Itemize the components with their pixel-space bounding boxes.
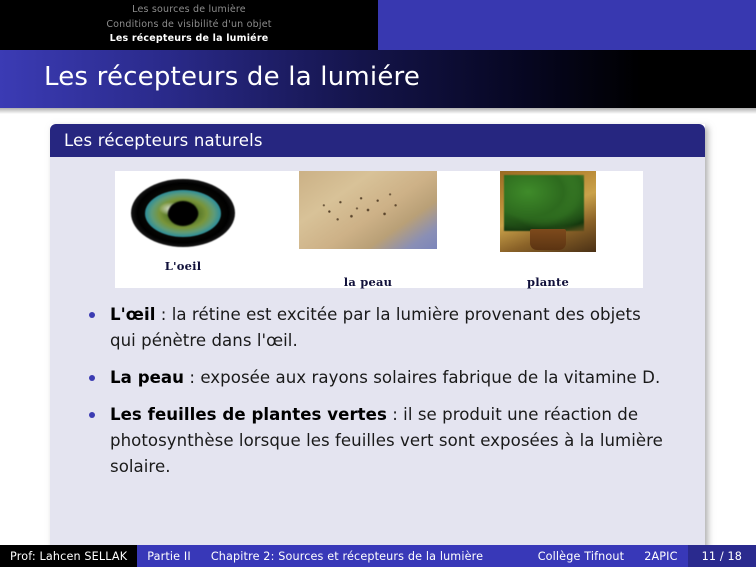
nav-item-conditions[interactable]: Conditions de visibilité d'un objet [0, 18, 378, 33]
bullet-term-skin: La peau [110, 368, 184, 387]
block-body: L'oeil la peau plante L'œil : la rétine … [50, 157, 705, 549]
figure-eye: L'oeil [123, 171, 243, 273]
figure-plant: plante [500, 171, 596, 289]
figure-skin-caption: la peau [299, 275, 437, 289]
list-item: L'œil : la rétine est excitée par la lum… [74, 302, 671, 354]
navigation-bar: Les sources de lumière Conditions de vis… [0, 0, 756, 50]
block-header: Les récepteurs naturels [50, 124, 705, 157]
plant-image [500, 171, 596, 252]
block-title-label: Les récepteurs naturels [64, 131, 263, 150]
slide-title-bar: Les récepteurs de la lumiére [0, 50, 756, 108]
bullet-text-eye: : la rétine est excitée par la lumière p… [110, 305, 641, 350]
bullet-text-skin: : exposée aux rayons solaires fabrique d… [184, 368, 660, 387]
title-bar-shadow [0, 108, 756, 114]
bullet-term-leaves: Les feuilles de plantes vertes [110, 405, 387, 424]
navigation-sections: Les sources de lumière Conditions de vis… [0, 0, 378, 50]
figure-strip: L'oeil la peau plante [115, 171, 643, 288]
nav-item-sources[interactable]: Les sources de lumière [0, 3, 378, 18]
list-item: La peau : exposée aux rayons solaires fa… [74, 365, 671, 391]
footer-page-number: 11 / 18 [688, 545, 756, 567]
nav-item-recepteurs[interactable]: Les récepteurs de la lumiére [0, 32, 378, 47]
figure-skin: la peau [299, 171, 437, 289]
footer-part: Partie II [137, 545, 201, 567]
list-item: Les feuilles de plantes vertes : il se p… [74, 402, 671, 480]
eye-pupil-shape [168, 201, 198, 226]
eye-image [123, 171, 243, 255]
footer-bar: Prof: Lahcen SELLAK Partie II Chapitre 2… [0, 545, 756, 567]
footer-chapter: Chapitre 2: Sources et récepteurs de la … [201, 545, 528, 567]
figure-plant-caption: plante [500, 275, 596, 289]
footer-author: Prof: Lahcen SELLAK [0, 545, 137, 567]
bullet-term-eye: L'œil [110, 305, 155, 324]
page-title: Les récepteurs de la lumiére [44, 62, 420, 92]
skin-image [299, 171, 437, 249]
figure-eye-caption: L'oeil [123, 259, 243, 273]
footer-class: 2APIC [634, 545, 687, 567]
content-block: Les récepteurs naturels L'oeil la peau p… [50, 124, 705, 549]
footer-school: Collège Tifnout [528, 545, 635, 567]
bullet-list: L'œil : la rétine est excitée par la lum… [74, 302, 671, 480]
